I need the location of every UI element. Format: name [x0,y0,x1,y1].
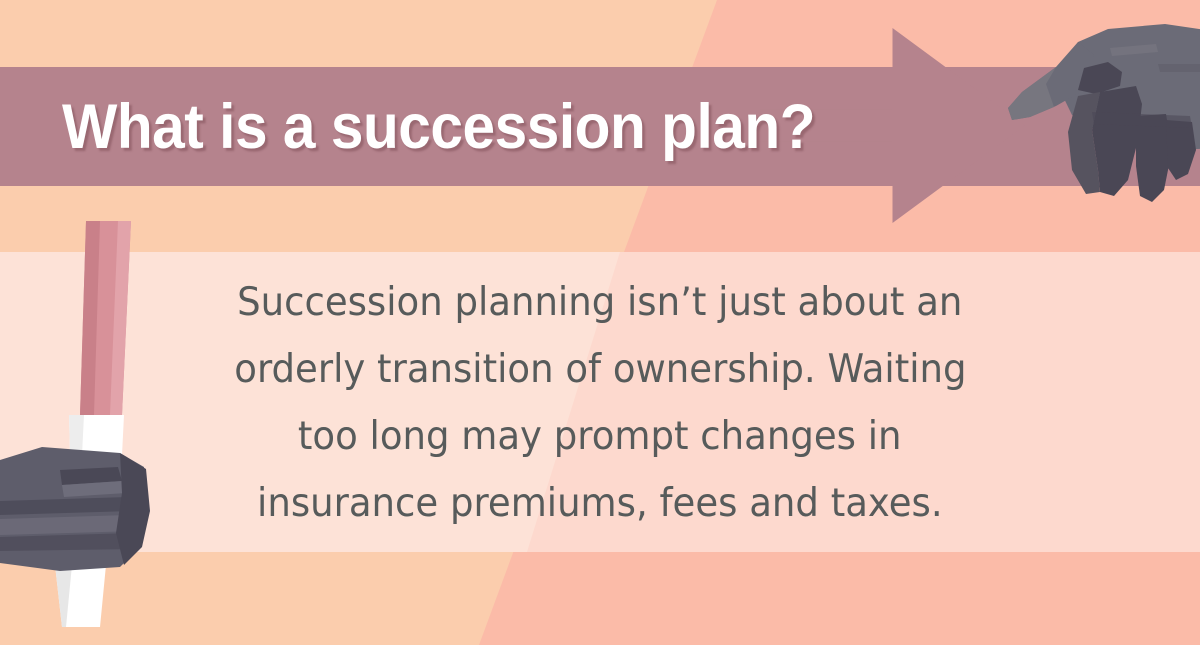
hand-holding-baton-icon [0,215,200,645]
reaching-hand-icon [960,20,1200,235]
page-title: What is a succession plan? [62,70,815,183]
infographic-card: What is a succession plan? [0,0,1200,645]
